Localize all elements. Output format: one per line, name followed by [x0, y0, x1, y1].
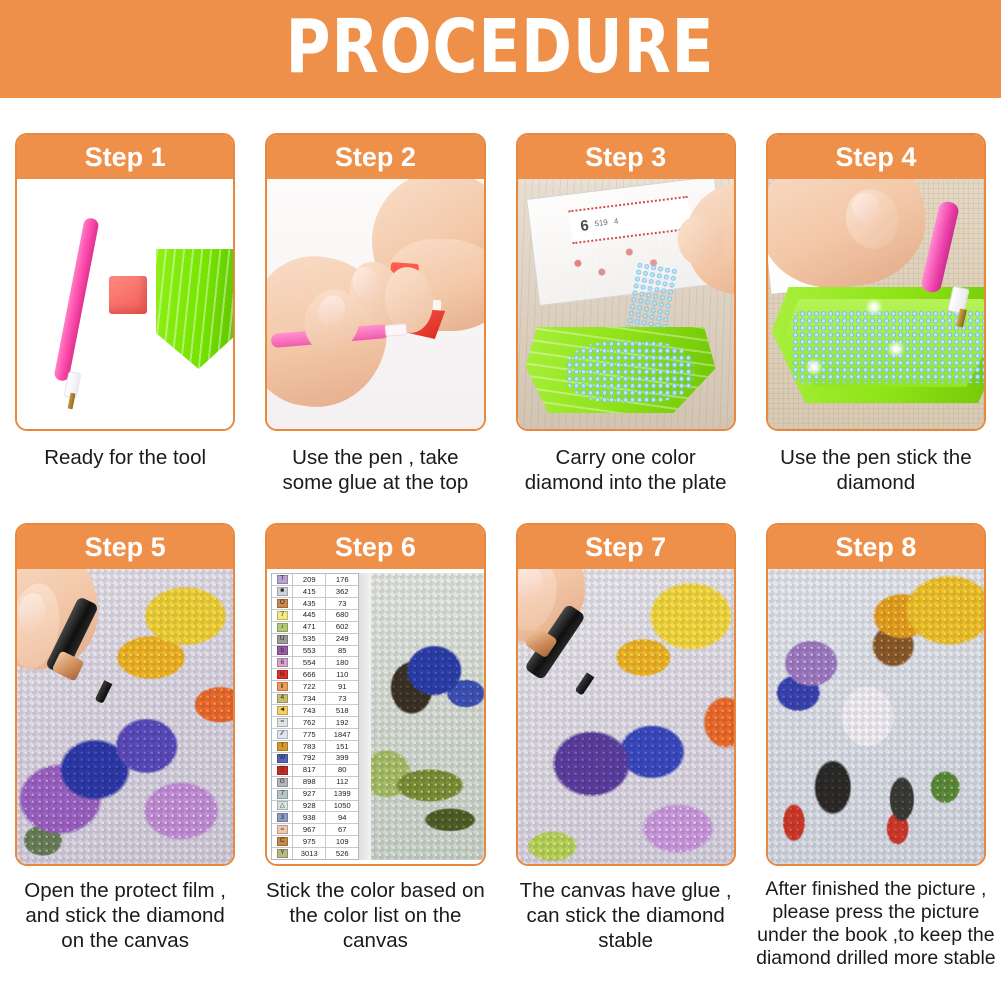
- diamond-canvas-icon: [371, 573, 483, 860]
- dmc-code-cell: 928: [293, 801, 326, 812]
- dmc-code-cell: 445: [293, 610, 326, 621]
- dmc-code-cell: 898: [293, 777, 326, 788]
- diamond-count-cell: 91: [326, 681, 358, 692]
- diamond-count-cell: 151: [326, 741, 358, 752]
- color-swatch: b: [277, 646, 288, 655]
- diamond-count-cell: 1050: [326, 801, 358, 812]
- color-chart-row: ⁄⁄7751847: [272, 729, 358, 741]
- blue-diamonds-icon: [566, 341, 694, 403]
- dmc-code-cell: 762: [293, 717, 326, 728]
- color-swatch: ■: [277, 587, 288, 596]
- step-4-caption: Use the pen stick the diamond: [766, 445, 986, 495]
- step-6-image: T209176■415362O435737445680♪471602U53524…: [267, 569, 483, 864]
- diamond-count-cell: 67: [326, 824, 358, 835]
- color-symbol-cell: U: [272, 634, 293, 645]
- color-symbol-cell: 7: [272, 789, 293, 800]
- color-swatch: N: [277, 670, 288, 679]
- step-3-header: Step 3: [518, 135, 734, 179]
- color-symbol-cell: O: [272, 598, 293, 609]
- color-swatch: C: [277, 837, 288, 846]
- step-cell-1: Step 1 Ready for the tool: [0, 98, 250, 495]
- step-8-caption: After finished the picture , please pres…: [752, 878, 1000, 970]
- color-chart-row: ≈96767: [272, 824, 358, 836]
- step-4-image: [768, 179, 984, 429]
- diamond-count-cell: 249: [326, 634, 358, 645]
- color-chart-row: T209176: [272, 574, 358, 586]
- color-swatch: 7: [277, 790, 288, 799]
- dmc-code-cell: 792: [293, 753, 326, 764]
- dmc-code-cell: 666: [293, 669, 326, 680]
- step-4-header: Step 4: [768, 135, 984, 179]
- step-cell-3: Step 3 6 519 4: [501, 98, 751, 495]
- dmc-code-cell: 927: [293, 789, 326, 800]
- color-symbol-cell: ⁄⁄: [272, 729, 293, 740]
- color-symbol-cell: 4: [272, 693, 293, 704]
- step-1-header: Step 1: [17, 135, 233, 179]
- color-swatch: ⁄⁄: [277, 730, 288, 739]
- color-symbol-cell: G: [272, 777, 293, 788]
- color-symbol-cell: C: [272, 836, 293, 847]
- dmc-code-cell: 554: [293, 657, 326, 668]
- color-chart-row: C975109: [272, 836, 358, 848]
- pen-ferrule-icon: [385, 323, 408, 337]
- step-3-caption: Carry one color diamond into the plate: [516, 445, 736, 495]
- color-swatch: 3: [277, 813, 288, 822]
- color-swatch: 6: [277, 658, 288, 667]
- color-swatch: U: [277, 635, 288, 644]
- color-swatch: ♪: [277, 623, 288, 632]
- color-symbol-cell: Y: [272, 848, 293, 859]
- pink-pen-icon: [53, 217, 99, 382]
- dmc-code-cell: 209: [293, 574, 326, 585]
- color-chart-table: T209176■415362O435737445680♪471602U53524…: [271, 573, 359, 860]
- diamond-count-cell: 680: [326, 610, 358, 621]
- canvas-edge-icon: [359, 573, 371, 860]
- color-chart-row: W792399: [272, 753, 358, 765]
- step-6-header: Step 6: [267, 525, 483, 569]
- color-symbol-cell: N: [272, 669, 293, 680]
- diamond-count-cell: 85: [326, 646, 358, 657]
- step-8-header: Step 8: [768, 525, 984, 569]
- step-card-2: Step 2: [265, 133, 485, 431]
- color-chart-row: O43573: [272, 598, 358, 610]
- step-8-image: [768, 569, 984, 864]
- color-chart-row: 7445680: [272, 610, 358, 622]
- color-swatch: Y: [277, 849, 288, 858]
- step-cell-4: Step 4: [751, 98, 1001, 495]
- step-cell-7: Step 7 The canvas have glue , ca: [501, 495, 751, 970]
- color-chart-row: ■415362: [272, 586, 358, 598]
- bag-label-number: 6: [579, 217, 589, 235]
- step-cell-5: Step 5 Open the protect film , a: [0, 495, 250, 970]
- color-symbol-cell: t: [272, 741, 293, 752]
- dmc-code-cell: 967: [293, 824, 326, 835]
- color-chart-row: 393894: [272, 812, 358, 824]
- color-chart-row: N666110: [272, 669, 358, 681]
- diamond-count-cell: 602: [326, 622, 358, 633]
- color-symbol-cell: ▒: [272, 765, 293, 776]
- color-symbol-cell: ◄: [272, 705, 293, 716]
- color-chart-row: ◄743518: [272, 705, 358, 717]
- bag-label-line2: 4: [613, 217, 618, 226]
- step-card-3: Step 3 6 519 4: [516, 133, 736, 431]
- diamond-count-cell: 94: [326, 812, 358, 823]
- step-7-header: Step 7: [518, 525, 734, 569]
- color-symbol-cell: △: [272, 801, 293, 812]
- diamond-count-cell: 73: [326, 598, 358, 609]
- color-symbol-cell: ■: [272, 586, 293, 597]
- color-chart-row: ♪471602: [272, 622, 358, 634]
- step-5-header: Step 5: [17, 525, 233, 569]
- pen-tip-icon: [574, 672, 594, 695]
- dmc-code-cell: 817: [293, 765, 326, 776]
- color-chart-row: ‖72291: [272, 681, 358, 693]
- color-chart-row: Y3013526: [272, 848, 358, 859]
- diamond-count-cell: 109: [326, 836, 358, 847]
- dmc-code-cell: 938: [293, 812, 326, 823]
- color-chart-row: 79271399: [272, 789, 358, 801]
- diamond-count-cell: 192: [326, 717, 358, 728]
- steps-row-bottom: Step 5 Open the protect film , a: [0, 495, 1001, 970]
- color-symbol-cell: 6: [272, 657, 293, 668]
- pen-tip-icon: [95, 680, 113, 704]
- color-chart-row: △9281050: [272, 801, 358, 813]
- diamond-count-cell: 73: [326, 693, 358, 704]
- step-card-5: Step 5: [15, 523, 235, 866]
- dmc-code-cell: 975: [293, 836, 326, 847]
- color-swatch: G: [277, 778, 288, 787]
- dmc-code-cell: 471: [293, 622, 326, 633]
- color-chart-row: t783151: [272, 741, 358, 753]
- dmc-code-cell: 535: [293, 634, 326, 645]
- step-1-caption: Ready for the tool: [15, 445, 235, 470]
- tray-grooves-icon: [156, 249, 233, 369]
- diamond-count-cell: 176: [326, 574, 358, 585]
- dmc-code-cell: 734: [293, 693, 326, 704]
- step-2-image: [267, 179, 483, 429]
- dmc-code-cell: 435: [293, 598, 326, 609]
- diamond-count-cell: 526: [326, 848, 358, 859]
- color-swatch: △: [277, 801, 288, 810]
- sparkle-icon: [886, 339, 906, 359]
- diamond-count-cell: 1847: [326, 729, 358, 740]
- color-swatch: W: [277, 754, 288, 763]
- step-cell-6: Step 6 T209176■415362O435737445680♪47160…: [250, 495, 500, 970]
- color-chart-row: G898112: [272, 777, 358, 789]
- step-3-image: 6 519 4: [518, 179, 734, 429]
- dmc-code-cell: 775: [293, 729, 326, 740]
- color-chart-row: U535249: [272, 634, 358, 646]
- step-card-7: Step 7: [516, 523, 736, 866]
- step-card-6: Step 6 T209176■415362O435737445680♪47160…: [265, 523, 485, 866]
- step-5-caption: Open the protect film , and stick the di…: [15, 878, 235, 953]
- color-symbol-cell: T: [272, 574, 293, 585]
- step-2-caption: Use the pen , take some glue at the top: [265, 445, 485, 495]
- diamond-count-cell: 1399: [326, 789, 358, 800]
- diamond-count-cell: 362: [326, 586, 358, 597]
- step-1-image: [17, 179, 233, 429]
- sparkle-icon: [864, 297, 884, 317]
- step-2-header: Step 2: [267, 135, 483, 179]
- step-card-8: Step 8: [766, 523, 986, 866]
- dmc-code-cell: 722: [293, 681, 326, 692]
- diamond-count-cell: 399: [326, 753, 358, 764]
- color-swatch: O: [277, 599, 288, 608]
- diamond-count-cell: 110: [326, 669, 358, 680]
- color-chart-row: 6554180: [272, 657, 358, 669]
- steps-row-top: Step 1 Ready for the tool: [0, 98, 1001, 495]
- step-cell-8: Step 8 After finished the picture , plea…: [751, 495, 1001, 970]
- sparkle-icon: [804, 357, 824, 377]
- color-swatch: =: [277, 718, 288, 727]
- step-7-image: [518, 569, 734, 864]
- color-symbol-cell: b: [272, 646, 293, 657]
- step-6-caption: Stick the color based on the color list …: [265, 878, 485, 953]
- color-swatch: T: [277, 575, 288, 584]
- procedure-infographic: PROCEDURE Step 1: [0, 0, 1001, 1001]
- color-symbol-cell: =: [272, 717, 293, 728]
- dmc-code-cell: 743: [293, 705, 326, 716]
- page-title: PROCEDURE: [286, 10, 715, 84]
- color-symbol-cell: 3: [272, 812, 293, 823]
- color-swatch: ‖: [277, 682, 288, 691]
- color-symbol-cell: 7: [272, 610, 293, 621]
- color-symbol-cell: ‖: [272, 681, 293, 692]
- dmc-code-cell: 783: [293, 741, 326, 752]
- color-swatch: ▒: [277, 766, 288, 775]
- step-5-image: [17, 569, 233, 864]
- step-card-4: Step 4: [766, 133, 986, 431]
- page-banner: PROCEDURE: [0, 0, 1001, 98]
- color-chart-row: ▒81780: [272, 765, 358, 777]
- diamond-count-cell: 180: [326, 657, 358, 668]
- color-chart-row: 473473: [272, 693, 358, 705]
- step-cell-2: Step 2: [250, 98, 500, 495]
- diamond-count-cell: 80: [326, 765, 358, 776]
- diamond-count-cell: 518: [326, 705, 358, 716]
- color-swatch: 4: [277, 694, 288, 703]
- color-symbol-cell: ♪: [272, 622, 293, 633]
- dmc-code-cell: 3013: [293, 848, 326, 859]
- steps-grid: Step 1 Ready for the tool: [0, 98, 1001, 970]
- diamond-count-cell: 112: [326, 777, 358, 788]
- finished-diamond-painting-icon: [768, 569, 984, 864]
- color-symbol-cell: W: [272, 753, 293, 764]
- glue-square-icon: [109, 276, 147, 314]
- color-chart-row: b55385: [272, 646, 358, 658]
- bag-label-line1: 519: [594, 218, 608, 228]
- dmc-code-cell: 415: [293, 586, 326, 597]
- color-symbol-cell: ≈: [272, 824, 293, 835]
- color-swatch: 7: [277, 611, 288, 620]
- step-card-1: Step 1: [15, 133, 235, 431]
- dmc-code-cell: 553: [293, 646, 326, 657]
- color-swatch: ≈: [277, 825, 288, 834]
- color-swatch: t: [277, 742, 288, 751]
- color-swatch: ◄: [277, 706, 288, 715]
- color-chart-row: =762192: [272, 717, 358, 729]
- step-7-caption: The canvas have glue , can stick the dia…: [516, 878, 736, 953]
